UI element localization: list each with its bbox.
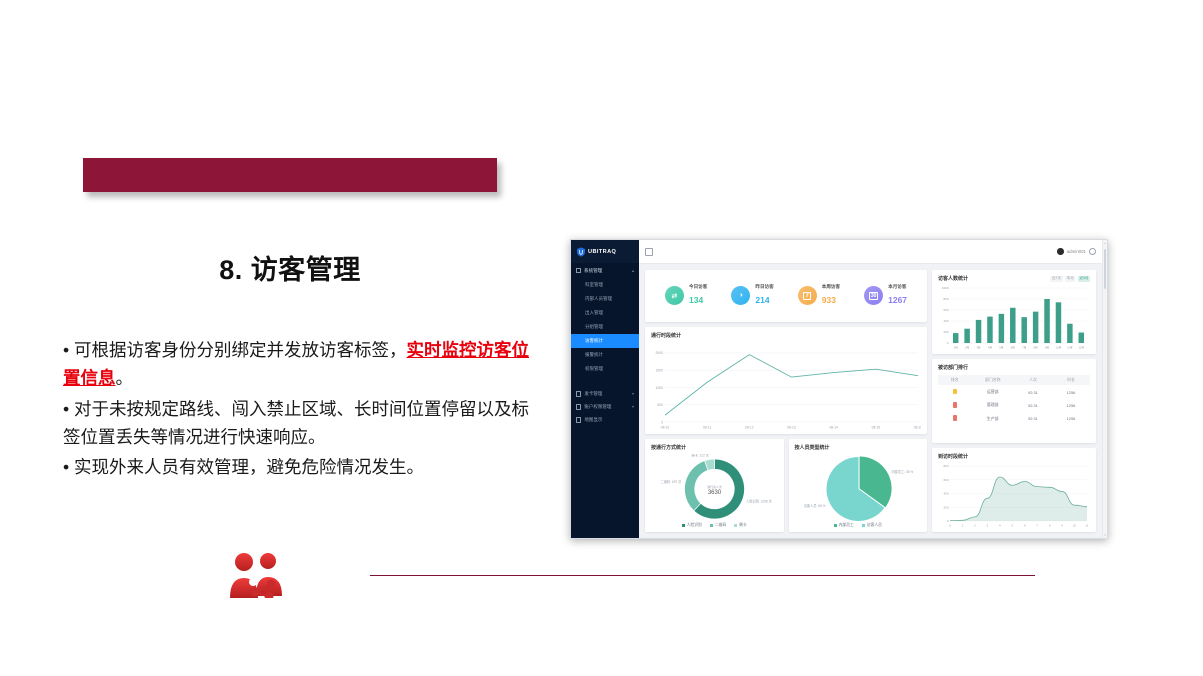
account-icon bbox=[576, 404, 581, 410]
svg-text:2000: 2000 bbox=[655, 351, 663, 355]
sidebar-item-alarm-stats[interactable]: 报警统计 bbox=[571, 348, 639, 362]
bullet-item-3: • 实现外来人员有效管理，避免危险情况发生。 bbox=[63, 453, 533, 481]
sidebar-item-label: 地图显示 bbox=[584, 417, 602, 423]
table-header-cell: 人次 bbox=[1014, 377, 1052, 383]
table-cell-dept: 运营部 bbox=[971, 389, 1014, 395]
left-column: ⇄ 今日访客 134 ◑ 昨日访客 214 bbox=[645, 270, 927, 532]
table-cell-count: 92:31 bbox=[1014, 390, 1052, 395]
moon-icon: ◑ bbox=[731, 286, 750, 305]
stat-value: 214 bbox=[755, 295, 769, 305]
svg-text:08-14: 08-14 bbox=[829, 426, 838, 430]
swap-icon: ⇄ bbox=[665, 286, 684, 305]
stat-yesterday: ◑ 昨日访客 214 bbox=[731, 284, 773, 309]
svg-text:08-10: 08-10 bbox=[661, 426, 670, 430]
medal-icon bbox=[953, 402, 957, 408]
stat-label: 本月访客 bbox=[888, 284, 907, 291]
svg-text:6: 6 bbox=[1024, 524, 1026, 528]
svg-text:刷卡: 112 次: 刷卡: 112 次 bbox=[691, 454, 709, 457]
page-title: 8. 访客管理 bbox=[83, 248, 497, 287]
rank-medal-cell bbox=[938, 402, 971, 409]
svg-text:0: 0 bbox=[661, 420, 663, 424]
stat-card-row: ⇄ 今日访客 134 ◑ 昨日访客 214 bbox=[645, 270, 927, 322]
svg-text:1月: 1月 bbox=[954, 346, 958, 350]
donut-chart-plot: 人脸识别: 1298 次二维码: 679 次刷卡: 112 次通行总人次3630 bbox=[651, 454, 778, 519]
sidebar-item-label: 内部人员管理 bbox=[585, 296, 612, 302]
stat-today: ⇄ 今日访客 134 bbox=[665, 284, 707, 309]
ranking-table-title: 被访部门排行 bbox=[932, 359, 1096, 373]
donut-chart-title: 按通行方式统计 bbox=[645, 439, 784, 453]
svg-text:08-12: 08-12 bbox=[745, 426, 754, 430]
svg-text:400: 400 bbox=[944, 492, 949, 496]
sidebar-item-label: 科室管理 bbox=[585, 282, 603, 288]
svg-text:1500: 1500 bbox=[655, 368, 663, 372]
page-scrollbar[interactable]: ▴ ▾ bbox=[1102, 240, 1107, 538]
user-name: admin001 bbox=[1067, 249, 1086, 254]
dashboard-screenshot: UBITRAQ 系统管理 ▴ 科室管理 内部人员管理 出入管理 分组管理 访客统… bbox=[570, 239, 1108, 539]
grid-icon bbox=[576, 268, 581, 273]
svg-text:二维码: 679 次: 二维码: 679 次 bbox=[661, 479, 683, 484]
map-icon bbox=[576, 417, 581, 423]
legend-swatch bbox=[682, 524, 685, 527]
table-cell-count: 92:31 bbox=[1014, 403, 1052, 408]
table-row[interactable]: 生产部 92:31 1256 bbox=[938, 412, 1090, 425]
svg-text:1000: 1000 bbox=[942, 286, 949, 290]
legend-swatch bbox=[734, 524, 737, 527]
svg-text:2: 2 bbox=[974, 524, 976, 528]
svg-text:800: 800 bbox=[944, 297, 949, 301]
footer-divider bbox=[370, 575, 1035, 576]
legend-swatch bbox=[834, 524, 837, 527]
svg-text:400: 400 bbox=[944, 319, 949, 323]
svg-text:0: 0 bbox=[949, 524, 951, 528]
svg-text:访客人员: 65 %: 访客人员: 65 % bbox=[803, 503, 825, 508]
svg-text:通行总人次: 通行总人次 bbox=[707, 484, 722, 489]
svg-text:9: 9 bbox=[1061, 524, 1063, 528]
sidebar-item-access[interactable]: 出入管理 bbox=[571, 306, 639, 320]
gear-icon[interactable] bbox=[1089, 248, 1096, 255]
table-cell-dept: 管理部 bbox=[971, 402, 1014, 408]
medal-icon bbox=[953, 415, 957, 421]
stat-week: 7 本周访客 933 bbox=[798, 284, 840, 309]
table-cell-dept: 生产部 bbox=[971, 416, 1014, 422]
bullet-1-tail: 。 bbox=[116, 368, 134, 388]
svg-text:10: 10 bbox=[1073, 524, 1077, 528]
svg-text:08-15: 08-15 bbox=[872, 426, 881, 430]
table-cell-duration: 1256 bbox=[1052, 403, 1090, 408]
top-bar: admin001 bbox=[639, 240, 1102, 264]
svg-text:2月: 2月 bbox=[965, 346, 969, 350]
avatar[interactable] bbox=[1057, 248, 1064, 255]
svg-text:3630: 3630 bbox=[708, 490, 722, 496]
svg-text:9月: 9月 bbox=[1045, 346, 1049, 350]
sidebar-item-visitor-stats[interactable]: 访客统计 bbox=[571, 334, 639, 348]
bar-chart-filters[interactable]: 近7天本月近3月 bbox=[1050, 276, 1090, 282]
svg-text:08-13: 08-13 bbox=[787, 426, 796, 430]
scroll-up-arrow[interactable]: ▴ bbox=[1104, 241, 1106, 245]
bullet-item-1: • 可根据访客身份分别绑定并发放访客标签，实时监控访客位置信息。 bbox=[63, 336, 533, 393]
stat-value: 134 bbox=[689, 295, 703, 305]
table-cell-duration: 1256 bbox=[1052, 416, 1090, 421]
svg-text:8: 8 bbox=[1049, 524, 1051, 528]
collapse-menu-icon[interactable] bbox=[645, 248, 653, 256]
week-icon: 7 bbox=[798, 286, 817, 305]
month-icon: 30 bbox=[864, 286, 883, 305]
pie-chart-plot: 内部员工: 35 %访客人员: 65 % bbox=[795, 454, 922, 519]
sidebar-item-map[interactable]: 地图显示 bbox=[571, 413, 639, 426]
ranking-table-card: 被访部门排行 排名 部门名称 人次 时长 运营部 92:31 1256 bbox=[932, 359, 1096, 443]
stat-label: 昨日访客 bbox=[755, 284, 773, 291]
sidebar-item-label: 权限管理 bbox=[585, 366, 603, 372]
svg-text:0: 0 bbox=[947, 341, 949, 345]
bar-chart-card: 访客人数统计 近7天本月近3月 020040060080010001月2月3月4… bbox=[932, 270, 1096, 354]
area-chart-card: 到访时段统计 020040060080001234567891011 bbox=[932, 448, 1096, 532]
svg-text:8月: 8月 bbox=[1034, 346, 1038, 350]
svg-text:12月: 12月 bbox=[1078, 346, 1084, 350]
svg-text:08-16: 08-16 bbox=[914, 426, 921, 430]
bar-chart-title: 访客人数统计 近7天本月近3月 bbox=[932, 270, 1096, 284]
table-row[interactable]: 管理部 92:31 1256 bbox=[938, 399, 1090, 412]
sidebar-item-group[interactable]: 分组管理 bbox=[571, 320, 639, 334]
svg-text:200: 200 bbox=[944, 330, 949, 334]
brand-name: UBITRAQ bbox=[588, 249, 616, 255]
bullet-item-2: • 对于未按规定路线、闯入禁止区域、长时间位置停留以及标签位置丢失等情况进行快速… bbox=[63, 395, 533, 452]
table-cell-duration: 1256 bbox=[1052, 390, 1090, 395]
stat-month: 30 本月访客 1267 bbox=[864, 284, 907, 309]
pie-row: 按通行方式统计 人脸识别: 1298 次二维码: 679 次刷卡: 112 次通… bbox=[645, 439, 927, 532]
main-area: admin001 ⇄ 今日访客 134 bbox=[639, 240, 1102, 538]
stat-label: 本周访客 bbox=[822, 284, 840, 291]
svg-text:1000: 1000 bbox=[655, 386, 663, 390]
line-chart-card: 通行时段统计 050010001500200008-1008-1108-1208… bbox=[645, 327, 927, 434]
sidebar-item-label: 出入管理 bbox=[585, 310, 603, 316]
sidebar-divider bbox=[571, 376, 639, 387]
sidebar-item-staff[interactable]: 内部人员管理 bbox=[571, 292, 639, 306]
sidebar: UBITRAQ 系统管理 ▴ 科室管理 内部人员管理 出入管理 分组管理 访客统… bbox=[571, 240, 639, 538]
stat-value: 933 bbox=[822, 295, 836, 305]
sidebar-item-label: 账户权限管理 bbox=[584, 404, 611, 410]
sidebar-item-label: 报警统计 bbox=[585, 352, 603, 358]
chevron-up-icon: ▴ bbox=[632, 268, 634, 273]
svg-text:7: 7 bbox=[1036, 524, 1038, 528]
scrollbar-thumb[interactable] bbox=[1104, 249, 1106, 289]
pie-chart-card: 按人员类型统计 内部员工: 35 %访客人员: 65 % 内部员工访客人员 bbox=[789, 439, 928, 532]
svg-text:600: 600 bbox=[944, 308, 949, 312]
bar-filter-本月[interactable]: 本月 bbox=[1065, 276, 1075, 282]
svg-text:人脸识别: 1298 次: 人脸识别: 1298 次 bbox=[746, 499, 772, 504]
svg-text:11月: 11月 bbox=[1067, 346, 1073, 350]
sidebar-item-account-perm[interactable]: 账户权限管理 ▾ bbox=[571, 400, 639, 413]
svg-text:11: 11 bbox=[1086, 524, 1089, 528]
svg-text:800: 800 bbox=[944, 464, 949, 468]
svg-text:1: 1 bbox=[962, 524, 964, 528]
bar-filter-近3月[interactable]: 近3月 bbox=[1078, 276, 1090, 282]
svg-text:5: 5 bbox=[1012, 524, 1014, 528]
legend-swatch bbox=[710, 524, 713, 527]
shield-icon bbox=[577, 247, 585, 257]
sidebar-item-card-issue[interactable]: 发卡管理 ▾ bbox=[571, 387, 639, 400]
ranking-table: 排名 部门名称 人次 时长 运营部 92:31 1256 bbox=[938, 375, 1090, 425]
svg-text:内部员工: 35 %: 内部员工: 35 % bbox=[891, 470, 913, 475]
table-cell-count: 92:31 bbox=[1014, 416, 1052, 421]
sidebar-item-label: 访客统计 bbox=[585, 338, 603, 344]
chevron-down-icon: ▾ bbox=[632, 391, 634, 396]
title-accent-bar bbox=[83, 158, 497, 192]
table-header-cell: 时长 bbox=[1052, 377, 1090, 383]
stat-value: 1267 bbox=[888, 295, 907, 305]
table-header-cell: 排名 bbox=[938, 377, 971, 383]
sidebar-item-permission[interactable]: 权限管理 bbox=[571, 362, 639, 376]
brand-logo: UBITRAQ bbox=[571, 240, 639, 263]
area-chart-plot: 020040060080001234567891011 bbox=[938, 463, 1090, 528]
sidebar-item-label: 发卡管理 bbox=[584, 391, 602, 397]
right-column: 访客人数统计 近7天本月近3月 020040060080010001月2月3月4… bbox=[932, 270, 1096, 532]
donut-chart-card: 按通行方式统计 人脸识别: 1298 次二维码: 679 次刷卡: 112 次通… bbox=[645, 439, 784, 532]
svg-text:10月: 10月 bbox=[1056, 346, 1062, 350]
pie-chart-title: 按人员类型统计 bbox=[789, 439, 928, 453]
svg-text:500: 500 bbox=[657, 403, 663, 407]
stat-label: 今日访客 bbox=[689, 284, 707, 291]
rank-medal-cell bbox=[938, 415, 971, 422]
sidebar-group-system[interactable]: 系统管理 ▴ bbox=[571, 263, 639, 278]
line-chart-title: 通行时段统计 bbox=[645, 327, 927, 341]
card-icon bbox=[576, 391, 581, 397]
sidebar-item-dept[interactable]: 科室管理 bbox=[571, 278, 639, 292]
table-header-row: 排名 部门名称 人次 时长 bbox=[938, 375, 1090, 385]
medal-icon bbox=[953, 389, 957, 395]
people-share-logo-icon bbox=[228, 552, 288, 598]
sidebar-item-label: 分组管理 bbox=[585, 324, 603, 330]
dashboard-content: ⇄ 今日访客 134 ◑ 昨日访客 214 bbox=[639, 264, 1102, 538]
area-chart-title: 到访时段统计 bbox=[932, 448, 1096, 462]
chevron-down-icon: ▾ bbox=[632, 404, 634, 409]
svg-text:3月: 3月 bbox=[976, 346, 980, 350]
bar-chart-title-text: 访客人数统计 bbox=[938, 275, 968, 282]
svg-text:08-11: 08-11 bbox=[703, 426, 711, 430]
svg-text:600: 600 bbox=[944, 478, 949, 482]
top-bar-right: admin001 bbox=[1057, 248, 1096, 255]
svg-text:200: 200 bbox=[944, 505, 949, 509]
bar-filter-近7天[interactable]: 近7天 bbox=[1050, 276, 1062, 282]
svg-text:4月: 4月 bbox=[988, 346, 992, 350]
table-row[interactable]: 运营部 92:31 1256 bbox=[938, 385, 1090, 398]
legend-swatch bbox=[862, 524, 865, 527]
svg-text:3: 3 bbox=[987, 524, 989, 528]
table-header-cell: 部门名称 bbox=[971, 377, 1014, 383]
sidebar-group-label: 系统管理 bbox=[584, 268, 602, 274]
bullet-1-lead: • 可根据访客身份分别绑定并发放访客标签， bbox=[63, 340, 407, 360]
rank-medal-cell bbox=[938, 389, 971, 396]
svg-text:5月: 5月 bbox=[999, 346, 1003, 350]
svg-text:0: 0 bbox=[947, 519, 949, 523]
bar-chart-plot: 020040060080010001月2月3月4月5月6月7月8月9月10月11… bbox=[938, 285, 1090, 350]
svg-text:4: 4 bbox=[999, 524, 1001, 528]
svg-text:7月: 7月 bbox=[1022, 346, 1026, 350]
line-chart-plot: 050010001500200008-1008-1108-1208-1308-1… bbox=[651, 342, 921, 430]
svg-text:6月: 6月 bbox=[1011, 346, 1015, 350]
scroll-down-arrow[interactable]: ▾ bbox=[1104, 533, 1106, 537]
bullet-list: • 可根据访客身份分别绑定并发放访客标签，实时监控访客位置信息。 • 对于未按规… bbox=[63, 336, 533, 484]
